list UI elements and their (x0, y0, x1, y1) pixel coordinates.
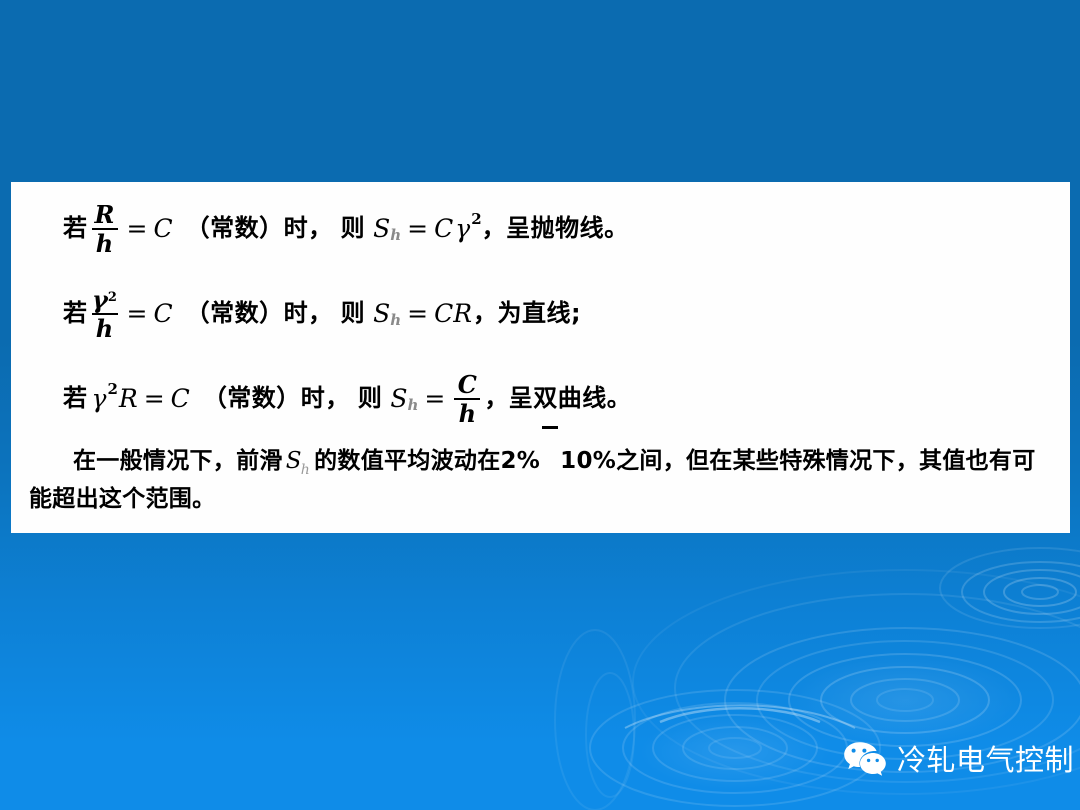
formula-1-conclusion: ，呈抛物线。 (482, 216, 629, 240)
formula-3-constant: C (170, 386, 191, 411)
formula-3-note: （常数）时， (191, 386, 350, 410)
formula-1-result-var: S (365, 216, 391, 241)
slide-canvas: 若 R h = C （常数）时， 则 Sh = C γ2 ，呈抛物线。 若 (0, 0, 1080, 810)
watermark-label: 冷轧电气控制 (897, 746, 1074, 775)
formula-parabola: 若 R h = C （常数）时， 则 Sh = C γ2 ，呈抛物线。 (63, 198, 1053, 258)
formula-3-exponent: 2 (107, 382, 117, 397)
formula-1-equals: = (122, 216, 153, 241)
formula-2-note: （常数）时， (174, 301, 333, 325)
formula-1-result-sub: h (390, 228, 401, 243)
formula-1-expr-gamma: γ (454, 216, 471, 241)
formula-block: 若 R h = C （常数）时， 则 Sh = C γ2 ，呈抛物线。 若 (63, 198, 1053, 453)
formula-line-straight: 若 γ2 h = C （常数）时， 则 Sh = CR ，为直线; (63, 283, 1053, 343)
formula-1-note: （常数）时， (174, 216, 333, 240)
watermark: 冷轧电气控制 (843, 740, 1074, 781)
range-separator-icon (540, 445, 560, 468)
formula-2-then: 则 (333, 301, 366, 325)
wechat-icon (843, 740, 887, 781)
formula-1-numerator: R (95, 202, 115, 228)
formula-2-result-var: S (365, 301, 391, 326)
formula-3-result-sub: h (407, 398, 418, 413)
formula-1-denominator: h (96, 230, 113, 256)
formula-1-prefix: 若 (63, 216, 88, 240)
formula-2-conclusion: ，为直线; (473, 301, 581, 325)
formula-3-result-fraction: C h (454, 372, 480, 426)
formula-1-expr-c: C (433, 216, 454, 241)
body-paragraph: 在一般情况下，前滑Sh的数值平均波动在2%10%之间，但在某些特殊情况下，其值也… (29, 444, 1053, 517)
formula-3-r: R (118, 386, 139, 411)
paragraph-variable-s: Sh (283, 448, 314, 474)
formula-3-result-numerator: C (458, 372, 477, 398)
formula-3-prefix: 若 (63, 386, 88, 410)
paragraph-indent (29, 448, 73, 474)
formula-1-then: 则 (333, 216, 366, 240)
range-high-value: 10% (560, 448, 616, 474)
formula-2-denominator: h (96, 315, 113, 341)
formula-3-then: 则 (350, 386, 383, 410)
formula-2-numerator-base: γ (92, 285, 108, 314)
formula-2-result-equals: = (402, 301, 433, 326)
formula-1-expr-exponent: 2 (471, 212, 481, 227)
formula-3-conclusion: ，呈双曲线。 (484, 386, 631, 410)
formula-3-gamma: γ (88, 386, 108, 411)
formula-2-prefix: 若 (63, 301, 88, 325)
formula-2-equals: = (122, 301, 153, 326)
formula-2-constant: C (152, 301, 173, 326)
formula-2-numerator-exponent: 2 (108, 290, 117, 305)
formula-1-fraction: R h (92, 202, 118, 256)
formula-3-result-denominator: h (459, 400, 476, 426)
formula-hyperbola: 若 γ2 R = C （常数）时， 则 Sh = C h ，呈双曲线。 (63, 368, 1053, 428)
range-low-value: 2% (501, 448, 541, 474)
formula-3-equals: = (139, 386, 170, 411)
formula-2-fraction: γ2 h (92, 287, 118, 341)
paragraph-part-3: 之间，但在某些特殊情况下，其 (616, 448, 942, 474)
content-card: 若 R h = C （常数）时， 则 Sh = C γ2 ，呈抛物线。 若 (11, 182, 1070, 533)
formula-3-result-equals: = (419, 386, 450, 411)
formula-1-result-equals: = (402, 216, 433, 241)
paragraph-part-1: 在一般情况下，前滑 (73, 448, 283, 474)
paragraph-variable-s-base: S (286, 448, 302, 474)
paragraph-variable-s-sub: h (301, 462, 310, 478)
formula-2-result-expr: CR (433, 301, 473, 326)
paragraph-part-2: 的数值平均波动在 (314, 448, 500, 474)
formula-3-result-var: S (382, 386, 408, 411)
formula-2-result-sub: h (390, 313, 401, 328)
formula-1-constant: C (152, 216, 173, 241)
formula-2-numerator: γ2 (92, 287, 117, 313)
